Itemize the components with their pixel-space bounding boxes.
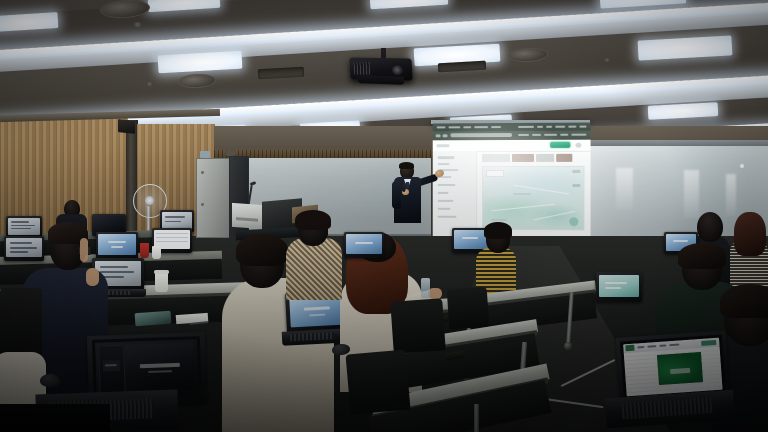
scene-vignette [0,0,768,432]
screenshot-root [0,0,768,432]
